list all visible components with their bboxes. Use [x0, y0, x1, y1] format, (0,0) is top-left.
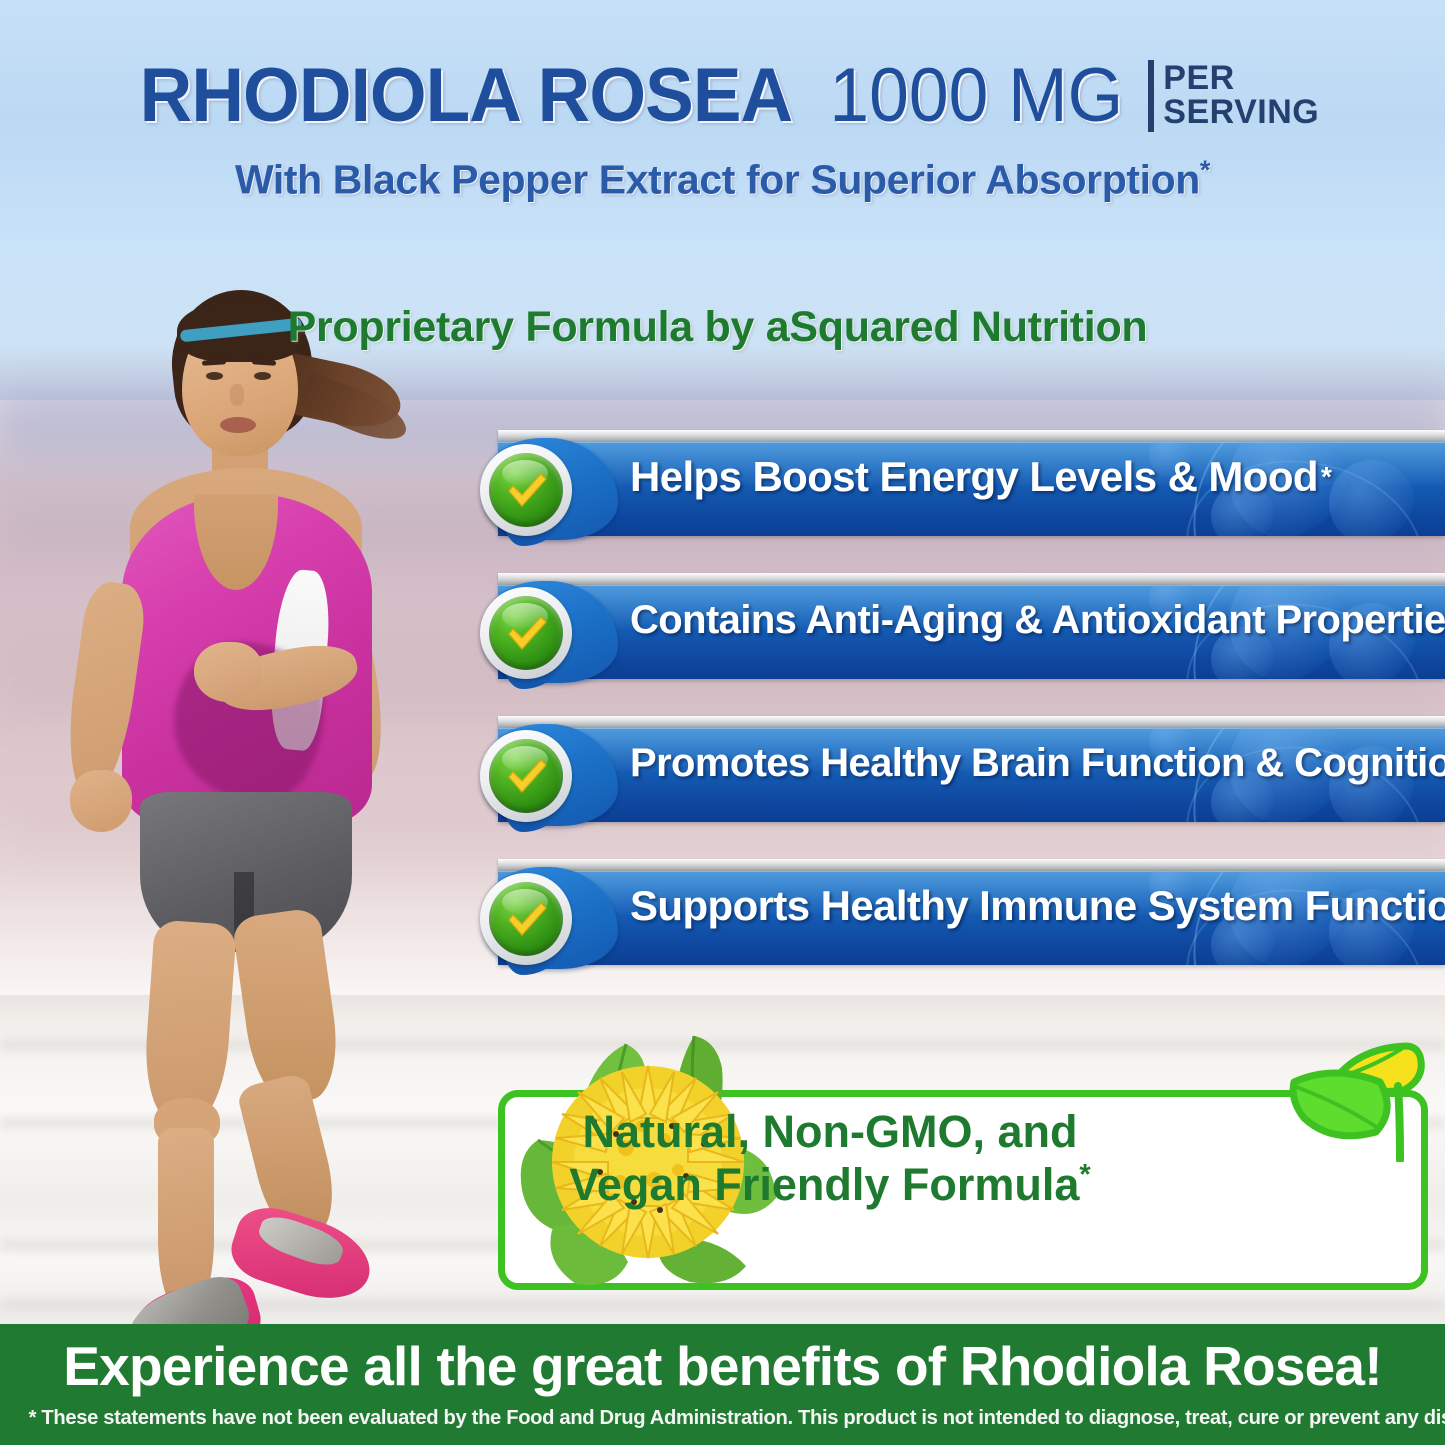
footer-headline: Experience all the great benefits of Rho… — [0, 1324, 1445, 1398]
benefit-text: Supports Healthy Immune System Function — [630, 882, 1445, 930]
benefit-label: Contains Anti-Aging & Antioxidant Proper… — [630, 573, 1427, 667]
check-circle-icon — [480, 444, 572, 536]
benefit-label: Promotes Healthy Brain Function & Cognit… — [630, 716, 1427, 810]
leaf-icon — [1288, 1034, 1440, 1162]
benefit-asterisk: * — [1321, 461, 1331, 493]
benefit-bar: Helps Boost Energy Levels & Mood* — [470, 430, 1445, 548]
natural-asterisk: * — [1079, 1159, 1090, 1191]
natural-line-1: Natural, Non-GMO, and — [583, 1106, 1078, 1157]
checkmark-glyph — [503, 753, 551, 801]
checkmark-glyph — [503, 896, 551, 944]
natural-line-2: Vegan Friendly Formula — [569, 1159, 1079, 1210]
product-infographic: RHODIOLA ROSEA 1000 MG PER SERVING With … — [0, 0, 1445, 1445]
badge-disc — [489, 596, 563, 670]
benefit-text: Helps Boost Energy Levels & Mood — [630, 453, 1318, 501]
natural-claim-text: Natural, Non-GMO, and Vegan Friendly For… — [300, 1105, 1360, 1211]
benefit-bar: Promotes Healthy Brain Function & Cognit… — [470, 716, 1445, 834]
badge-disc — [489, 739, 563, 813]
check-circle-icon — [480, 730, 572, 822]
benefit-bar: Contains Anti-Aging & Antioxidant Proper… — [470, 573, 1445, 691]
checkmark-glyph — [503, 610, 551, 658]
benefit-label: Helps Boost Energy Levels & Mood* — [630, 430, 1427, 524]
check-circle-icon — [480, 873, 572, 965]
fda-disclaimer: * These statements have not been evaluat… — [11, 1406, 1434, 1430]
benefit-text: Promotes Healthy Brain Function & Cognit… — [630, 741, 1445, 786]
benefit-bar: Supports Healthy Immune System Function* — [470, 859, 1445, 977]
check-circle-icon — [480, 587, 572, 679]
badge-disc — [489, 453, 563, 527]
badge-disc — [489, 882, 563, 956]
checkmark-glyph — [503, 467, 551, 515]
benefit-text: Contains Anti-Aging & Antioxidant Proper… — [630, 598, 1445, 643]
footer-banner: Experience all the great benefits of Rho… — [0, 1324, 1445, 1445]
benefit-label: Supports Healthy Immune System Function* — [630, 859, 1427, 953]
